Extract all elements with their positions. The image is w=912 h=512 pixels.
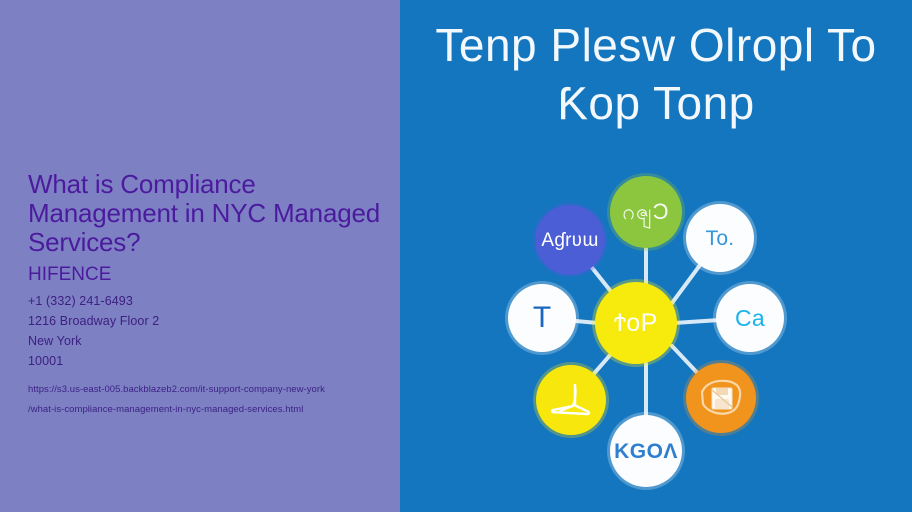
paper-plane-icon — [549, 383, 593, 417]
diagram-node-kgon-label: ΚGOΛ — [614, 441, 678, 462]
diagram-node-green[interactable]: ဂၛƆ — [610, 176, 682, 248]
headline-line-1: Tenp Plesw Olropl To — [404, 16, 908, 74]
diagram-node-ca-label: Cа — [735, 307, 765, 330]
hub-and-spoke-diagram: ϮoΡ Aɠrʋɯ ဂၛƆ To. Cа T — [400, 160, 912, 512]
diagram-node-to[interactable]: To. — [686, 204, 754, 272]
diagram-node-green-label: ဂၛƆ — [623, 201, 670, 223]
source-url-line-2: /what-is-compliance-management-in-nyc-ma… — [28, 400, 380, 420]
diagram-node-ca[interactable]: Cа — [716, 284, 784, 352]
headline-line-2: Ƙop Tonp — [404, 74, 908, 132]
brand-name: HIFENCE — [28, 263, 380, 287]
diagram-node-t[interactable]: T — [508, 284, 576, 352]
source-url: https://s3.us-east-005.backblazeb2.com/i… — [28, 380, 380, 420]
diagram-node-hub-label: ϮoΡ — [614, 311, 658, 336]
article-info-block: What is Compliance Management in NYC Man… — [28, 170, 380, 420]
slide-canvas: What is Compliance Management in NYC Man… — [0, 0, 912, 512]
diagram-node-hub[interactable]: ϮoΡ — [595, 282, 677, 364]
diagram-node-plane[interactable] — [536, 365, 606, 435]
diagram-node-agrws[interactable]: Aɠrʋɯ — [535, 205, 605, 275]
diagram-node-to-label: To. — [706, 228, 735, 249]
contact-street: 1216 Broadway Floor 2 — [28, 311, 380, 331]
diagram-node-agrws-label: Aɠrʋɯ — [541, 231, 598, 250]
left-info-panel: What is Compliance Management in NYC Man… — [0, 0, 400, 512]
source-url-line-1: https://s3.us-east-005.backblazeb2.com/i… — [28, 380, 380, 400]
right-visual-panel: Tenp Plesw Olropl To Ƙop Tonp Ϯo — [400, 0, 912, 512]
page-title: What is Compliance Management in NYC Man… — [28, 170, 380, 257]
contact-zip: 10001 — [28, 351, 380, 371]
diagram-node-save[interactable] — [686, 363, 756, 433]
headline-block: Tenp Plesw Olropl To Ƙop Tonp — [400, 16, 912, 132]
contact-phone: +1 (332) 241-6493 — [28, 291, 380, 311]
contact-city: New York — [28, 331, 380, 351]
diagram-node-kgon[interactable]: ΚGOΛ — [610, 415, 682, 487]
diagram-node-t-label: T — [533, 303, 551, 333]
floppy-disk-icon — [698, 378, 744, 418]
